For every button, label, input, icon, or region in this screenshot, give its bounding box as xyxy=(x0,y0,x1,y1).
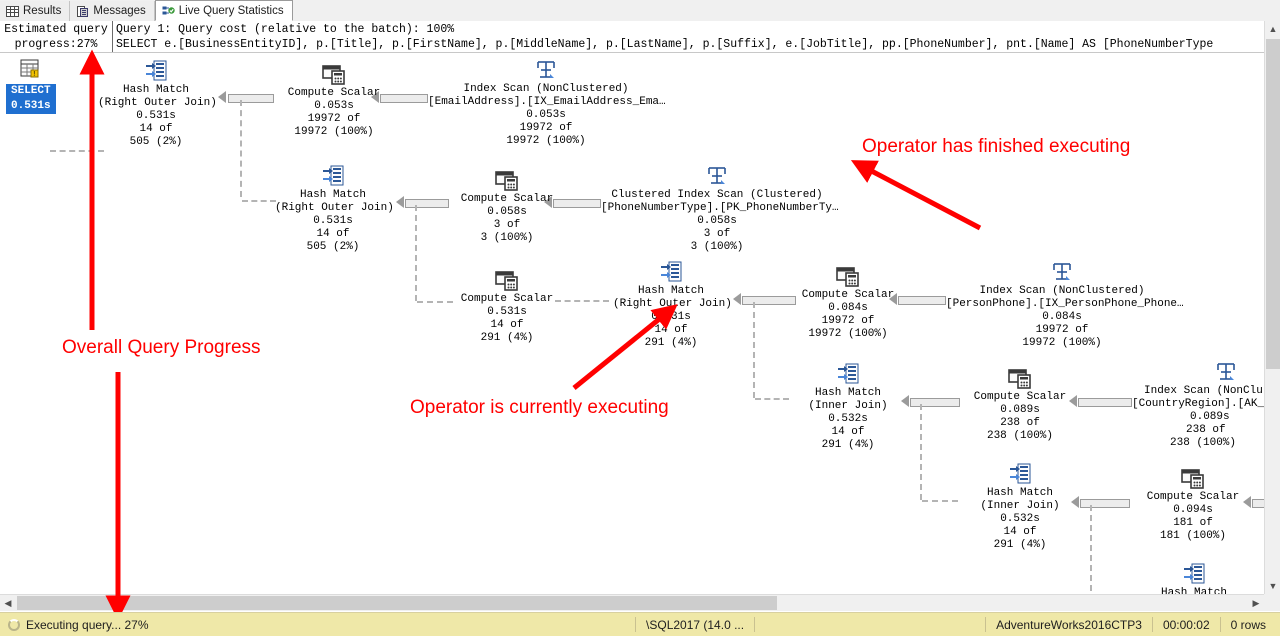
node-time: 0.058s xyxy=(450,206,564,219)
node-time: 0.089s xyxy=(1132,411,1264,424)
connector-select-hm1 xyxy=(50,150,104,152)
node-time: 0.531s xyxy=(613,311,729,324)
node-subname: [EmailAddress].[IX_EmailAddress_Ema… xyxy=(428,96,664,109)
node-total: 19972 (100%) xyxy=(791,328,905,341)
index-scan-icon xyxy=(601,165,833,187)
node-total: 19972 (100%) xyxy=(428,135,664,148)
node-name: Compute Scalar xyxy=(791,289,905,302)
node-subname: (Right Outer Join) xyxy=(613,298,729,311)
compute-scalar-icon xyxy=(277,63,391,85)
node-rows: 14 of xyxy=(98,123,214,136)
node-total: 291 (4%) xyxy=(613,337,729,350)
node-name: Compute Scalar xyxy=(1136,491,1250,504)
index-scan-icon xyxy=(1132,361,1264,383)
node-rows: 14 of xyxy=(790,426,906,439)
connector-hm2-cs2-head xyxy=(396,196,404,208)
plan-node-index-scan-personphone[interactable]: Index Scan (NonClustered) [PersonPhone].… xyxy=(946,261,1178,350)
node-time: 0.084s xyxy=(946,311,1178,324)
connector-hm1-branch-v xyxy=(240,100,242,197)
node-name: Index Scan (NonClustered) xyxy=(946,285,1178,298)
node-total: 19972 (100%) xyxy=(277,126,391,139)
node-name: Hash Match xyxy=(275,189,391,202)
node-subname: (Inner Join) xyxy=(962,500,1078,513)
status-elapsed: 00:00:02 xyxy=(1152,617,1220,632)
node-time: 0.084s xyxy=(791,302,905,315)
node-time: 0.532s xyxy=(790,413,906,426)
node-rows: 19972 of xyxy=(946,324,1178,337)
node-name: Hash Match xyxy=(1136,587,1252,594)
document-icon xyxy=(76,5,89,18)
hash-match-icon xyxy=(275,165,391,187)
node-name: Compute Scalar xyxy=(450,293,564,306)
query-header: Estimated query progress:27% Query 1: Qu… xyxy=(0,21,1280,53)
annotation-overall-query-progress: Overall Query Progress xyxy=(62,337,261,359)
annotation-operator-executing: Operator is currently executing xyxy=(410,397,669,419)
status-user xyxy=(754,617,985,632)
plan-node-clustered-index-scan-phonenumbertype[interactable]: Clustered Index Scan (Clustered) [PhoneN… xyxy=(601,165,833,254)
node-time: 0.532s xyxy=(962,513,1078,526)
scroll-down-icon[interactable]: ▼ xyxy=(1265,578,1280,594)
node-total: 238 (100%) xyxy=(963,430,1077,443)
select-result-icon: ! xyxy=(6,60,54,82)
plan-node-index-scan-countryregion[interactable]: Index Scan (NonClu [CountryRegion].[AK_C… xyxy=(1132,361,1264,450)
connector-hm1-cs1 xyxy=(228,94,274,103)
vertical-scroll-thumb[interactable] xyxy=(1266,39,1280,369)
node-rows: 181 of xyxy=(1136,517,1250,530)
node-name: Hash Match xyxy=(790,387,906,400)
node-name: Index Scan (NonClu xyxy=(1132,385,1264,398)
select-node-cost: 0.531s xyxy=(6,99,56,114)
node-rows: 238 of xyxy=(963,417,1077,430)
node-total: 291 (4%) xyxy=(790,439,906,452)
node-rows: 19972 of xyxy=(428,122,664,135)
node-name: Index Scan (NonClustered) xyxy=(428,83,664,96)
hash-match-icon xyxy=(98,60,214,82)
estimated-progress-line2: progress:27% xyxy=(0,37,112,52)
spinner-icon xyxy=(8,619,20,631)
connector-cs3-in xyxy=(417,301,453,303)
node-name: Hash Match xyxy=(613,285,729,298)
connector-hm3-cs4 xyxy=(742,296,796,305)
live-stats-icon xyxy=(162,4,175,17)
plan-node-compute-scalar-5[interactable]: Compute Scalar 0.089s 238 of 238 (100%) xyxy=(963,367,1077,443)
node-total: 291 (4%) xyxy=(450,332,564,345)
compute-scalar-icon xyxy=(450,169,564,191)
node-time: 0.053s xyxy=(428,109,664,122)
plan-node-hash-match-6[interactable]: Hash Match xyxy=(1136,563,1252,594)
tab-live-query-statistics[interactable]: Live Query Statistics xyxy=(155,0,293,21)
node-time: 0.053s xyxy=(277,100,391,113)
node-subname: [CountryRegion].[AK_Cou xyxy=(1132,398,1264,411)
tab-results-label: Results xyxy=(23,5,61,17)
tab-messages[interactable]: Messages xyxy=(70,1,154,21)
svg-text:!: ! xyxy=(32,71,36,79)
node-name: Clustered Index Scan (Clustered) xyxy=(601,189,833,202)
node-subname: (Right Outer Join) xyxy=(98,97,214,110)
node-total: 291 (4%) xyxy=(962,539,1078,552)
node-rows: 14 of xyxy=(275,228,391,241)
node-time: 0.531s xyxy=(98,110,214,123)
tab-results[interactable]: Results xyxy=(0,1,70,21)
connector-hm5-branch-v xyxy=(1090,505,1092,594)
node-name: Compute Scalar xyxy=(277,87,391,100)
node-rows: 14 of xyxy=(613,324,729,337)
plan-node-compute-scalar-3[interactable]: Compute Scalar 0.531s 14 of 291 (4%) xyxy=(450,269,564,345)
node-rows: 19972 of xyxy=(277,113,391,126)
node-subname: (Right Outer Join) xyxy=(275,202,391,215)
node-name: Compute Scalar xyxy=(450,193,564,206)
node-rows: 14 of xyxy=(962,526,1078,539)
index-scan-icon xyxy=(946,261,1178,283)
connector-hm2-branch-v xyxy=(415,205,417,301)
plan-node-compute-scalar-2[interactable]: Compute Scalar 0.058s 3 of 3 (100%) xyxy=(450,169,564,245)
node-rows: 3 of xyxy=(450,219,564,232)
scroll-up-icon[interactable]: ▲ xyxy=(1265,21,1280,37)
hash-match-icon xyxy=(1136,563,1252,585)
status-database: AdventureWorks2016CTP3 xyxy=(985,617,1152,632)
node-rows: 3 of xyxy=(601,228,833,241)
estimated-progress-line1: Estimated query xyxy=(0,22,112,37)
horizontal-scroll-thumb[interactable] xyxy=(17,596,777,610)
status-server: \SQL2017 (14.0 ... xyxy=(635,617,754,632)
node-time: 0.058s xyxy=(601,215,833,228)
connector-hm5-in xyxy=(922,500,958,502)
scroll-left-icon[interactable]: ◀ xyxy=(0,595,16,611)
node-rows: 19972 of xyxy=(791,315,905,328)
node-subname: [PersonPhone].[IX_PersonPhone_Phone… xyxy=(946,298,1178,311)
plan-node-select[interactable]: ! SELECT 0.531s xyxy=(6,60,54,114)
connector-hm2-cs2 xyxy=(405,199,449,208)
tab-messages-label: Messages xyxy=(93,5,145,17)
node-rows: 238 of xyxy=(1132,424,1264,437)
scroll-right-icon[interactable]: ▶ xyxy=(1248,595,1264,611)
connector-hm1-cs1-head xyxy=(218,91,226,103)
node-total: 3 (100%) xyxy=(601,241,833,254)
compute-scalar-icon xyxy=(791,265,905,287)
vertical-scrollbar[interactable]: ▲ ▼ xyxy=(1264,21,1280,594)
plan-node-hash-match-5[interactable]: Hash Match (Inner Join) 0.532s 14 of 291… xyxy=(962,463,1078,552)
node-subname: [PhoneNumberType].[PK_PhoneNumberTy… xyxy=(601,202,833,215)
connector-hm2-in xyxy=(242,200,276,202)
node-time: 0.094s xyxy=(1136,504,1250,517)
connector-hm5-cs6 xyxy=(1080,499,1130,508)
results-tabstrip: Results Messages Live Query Stati xyxy=(0,0,1280,22)
execution-plan-canvas[interactable]: ! SELECT 0.531s Hash Match (Right Outer … xyxy=(0,53,1264,594)
plan-node-index-scan-emailaddress[interactable]: Index Scan (NonClustered) [EmailAddress]… xyxy=(428,59,664,148)
node-total: 19972 (100%) xyxy=(946,337,1178,350)
status-bar: Executing query... 27% \SQL2017 (14.0 ..… xyxy=(0,612,1280,636)
node-total: 181 (100%) xyxy=(1136,530,1250,543)
scrollbar-corner xyxy=(1264,594,1280,611)
connector-cs4-scan3 xyxy=(898,296,946,305)
plan-node-compute-scalar-4[interactable]: Compute Scalar 0.084s 19972 of 19972 (10… xyxy=(791,265,905,341)
tab-live-query-statistics-label: Live Query Statistics xyxy=(179,5,284,17)
status-executing: Executing query... 27% xyxy=(0,618,149,632)
plan-node-hash-match-4[interactable]: Hash Match (Inner Join) 0.532s 14 of 291… xyxy=(790,363,906,452)
node-name: Hash Match xyxy=(98,84,214,97)
connector-hm4-branch-v xyxy=(920,404,922,500)
annotation-operator-finished: Operator has finished executing xyxy=(862,136,1130,158)
plan-node-hash-match-1[interactable]: Hash Match (Right Outer Join) 0.531s 14 … xyxy=(98,60,214,149)
hash-match-icon xyxy=(962,463,1078,485)
node-total: 505 (2%) xyxy=(275,241,391,254)
connector-hm3-cs4-head xyxy=(733,293,741,305)
select-node-label: SELECT xyxy=(6,84,56,99)
connector-cs6-offscreen xyxy=(1252,499,1264,508)
compute-scalar-icon xyxy=(1136,467,1250,489)
connector-hm4-in xyxy=(755,398,789,400)
status-executing-label: Executing query... 27% xyxy=(26,618,149,632)
node-total: 238 (100%) xyxy=(1132,437,1264,450)
compute-scalar-icon xyxy=(963,367,1077,389)
plan-node-compute-scalar-6[interactable]: Compute Scalar 0.094s 181 of 181 (100%) xyxy=(1136,467,1250,543)
plan-node-hash-match-3[interactable]: Hash Match (Right Outer Join) 0.531s 14 … xyxy=(613,261,729,350)
index-scan-icon xyxy=(428,59,664,81)
hash-match-icon xyxy=(790,363,906,385)
query-cost-line: Query 1: Query cost (relative to the bat… xyxy=(116,22,1264,37)
connector-hm4-cs5 xyxy=(910,398,960,407)
hash-match-icon xyxy=(613,261,729,283)
compute-scalar-icon xyxy=(450,269,564,291)
node-rows: 14 of xyxy=(450,319,564,332)
node-time: 0.531s xyxy=(450,306,564,319)
query-text: Query 1: Query cost (relative to the bat… xyxy=(116,21,1264,53)
node-subname: (Inner Join) xyxy=(790,400,906,413)
plan-node-compute-scalar-1[interactable]: Compute Scalar 0.053s 19972 of 19972 (10… xyxy=(277,63,391,139)
node-name: Hash Match xyxy=(962,487,1078,500)
node-total: 3 (100%) xyxy=(450,232,564,245)
status-rows: 0 rows xyxy=(1220,617,1280,632)
horizontal-scrollbar[interactable]: ◀ ▶ xyxy=(0,594,1264,611)
query-sql-line: SELECT e.[BusinessEntityID], p.[Title], … xyxy=(116,37,1264,52)
grid-icon xyxy=(6,5,19,18)
node-time: 0.531s xyxy=(275,215,391,228)
estimated-query-progress: Estimated query progress:27% xyxy=(0,21,113,52)
connector-hm3-branch-v xyxy=(753,302,755,398)
node-total: 505 (2%) xyxy=(98,136,214,149)
node-name: Compute Scalar xyxy=(963,391,1077,404)
connector-cs5-scan4 xyxy=(1078,398,1132,407)
plan-node-hash-match-2[interactable]: Hash Match (Right Outer Join) 0.531s 14 … xyxy=(275,165,391,254)
node-time: 0.089s xyxy=(963,404,1077,417)
